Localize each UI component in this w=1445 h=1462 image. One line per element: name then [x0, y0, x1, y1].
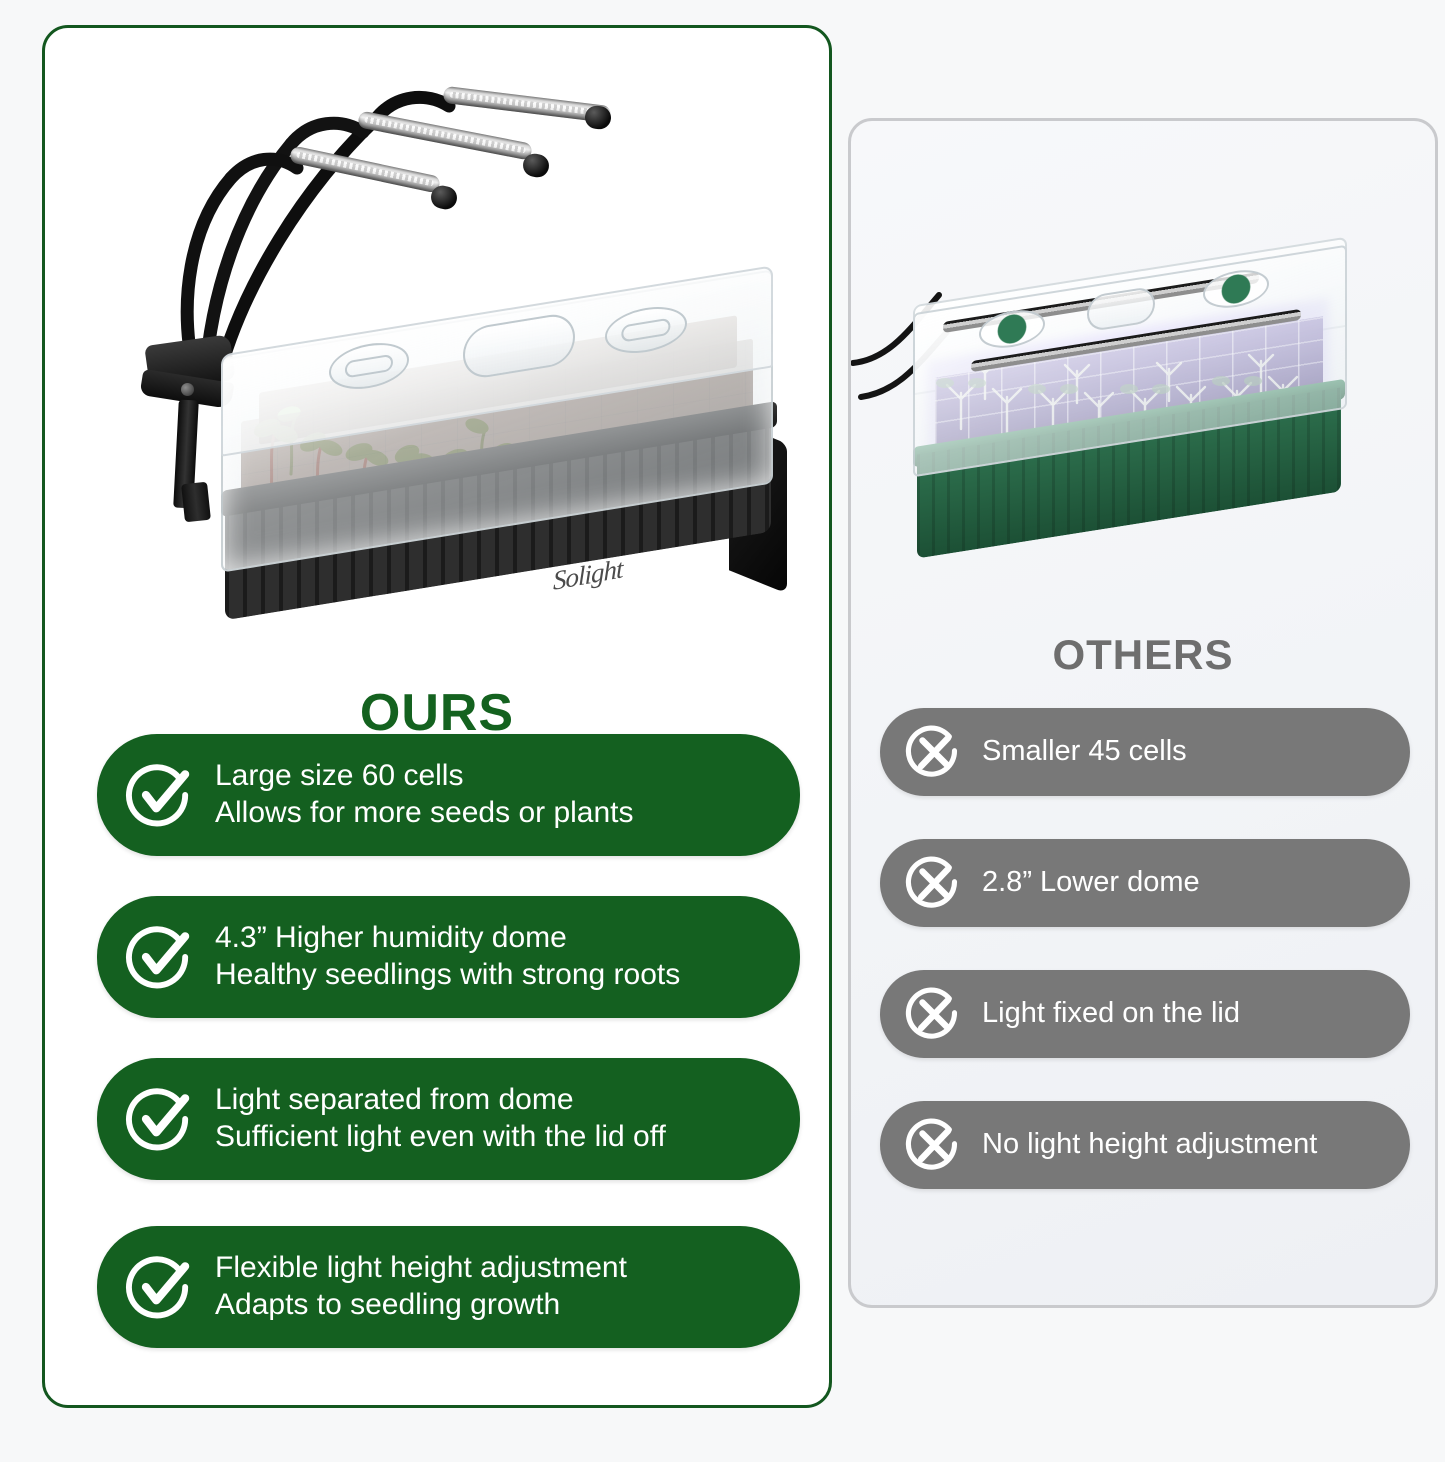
ours-feature-pill[interactable]: Large size 60 cells Allows for more seed…	[97, 734, 800, 856]
others-drawback-pill[interactable]: Smaller 45 cells	[880, 708, 1410, 796]
others-heading: OTHERS	[848, 631, 1438, 679]
others-product-photo	[851, 121, 1435, 591]
ours-feature-text: Light separated from dome Sufficient lig…	[215, 1082, 666, 1155]
comparison-infographic: Solight OURS	[0, 0, 1445, 1462]
clamp-screw-icon	[181, 383, 194, 396]
x-circle-icon	[902, 1113, 966, 1177]
ours-feature-pill[interactable]: Flexible light height adjustment Adapts …	[97, 1226, 800, 1348]
others-drawback-text: Smaller 45 cells	[982, 734, 1187, 769]
x-circle-icon	[902, 851, 966, 915]
ours-feature-text: Large size 60 cells Allows for more seed…	[215, 758, 634, 831]
others-drawback-text: No light height adjustment	[982, 1127, 1317, 1162]
feature-line-1: Large size 60 cells	[215, 759, 463, 792]
check-circle-icon	[123, 1082, 197, 1156]
feature-line-1: 4.3” Higher humidity dome	[215, 921, 567, 954]
ours-feature-pill[interactable]: 4.3” Higher humidity dome Healthy seedli…	[97, 896, 800, 1018]
feature-line-2: Healthy seedlings with strong roots	[215, 957, 680, 994]
ours-feature-text: 4.3” Higher humidity dome Healthy seedli…	[215, 920, 680, 993]
ours-feature-text: Flexible light height adjustment Adapts …	[215, 1250, 627, 1323]
feature-line-1: Flexible light height adjustment	[215, 1251, 627, 1284]
feature-line-2: Sufficient light even with the lid off	[215, 1119, 666, 1156]
x-circle-icon	[902, 982, 966, 1046]
check-circle-icon	[123, 758, 197, 832]
feature-line-1: Light separated from dome	[215, 1083, 574, 1116]
ours-product-photo: Solight	[45, 28, 829, 658]
x-circle-icon	[902, 720, 966, 784]
feature-line-2: Adapts to seedling growth	[215, 1287, 627, 1324]
others-drawback-pill[interactable]: No light height adjustment	[880, 1101, 1410, 1189]
others-drawback-pill[interactable]: Light fixed on the lid	[880, 970, 1410, 1058]
clamp-stem-lower-icon	[181, 482, 211, 523]
ours-panel: Solight OURS	[42, 25, 832, 1408]
others-drawback-text: 2.8” Lower dome	[982, 865, 1200, 900]
others-drawback-text: Light fixed on the lid	[982, 996, 1240, 1031]
check-circle-icon	[123, 920, 197, 994]
others-drawback-pill[interactable]: 2.8” Lower dome	[880, 839, 1410, 927]
check-circle-icon	[123, 1250, 197, 1324]
ours-feature-pill[interactable]: Light separated from dome Sufficient lig…	[97, 1058, 800, 1180]
feature-line-2: Allows for more seeds or plants	[215, 795, 634, 832]
